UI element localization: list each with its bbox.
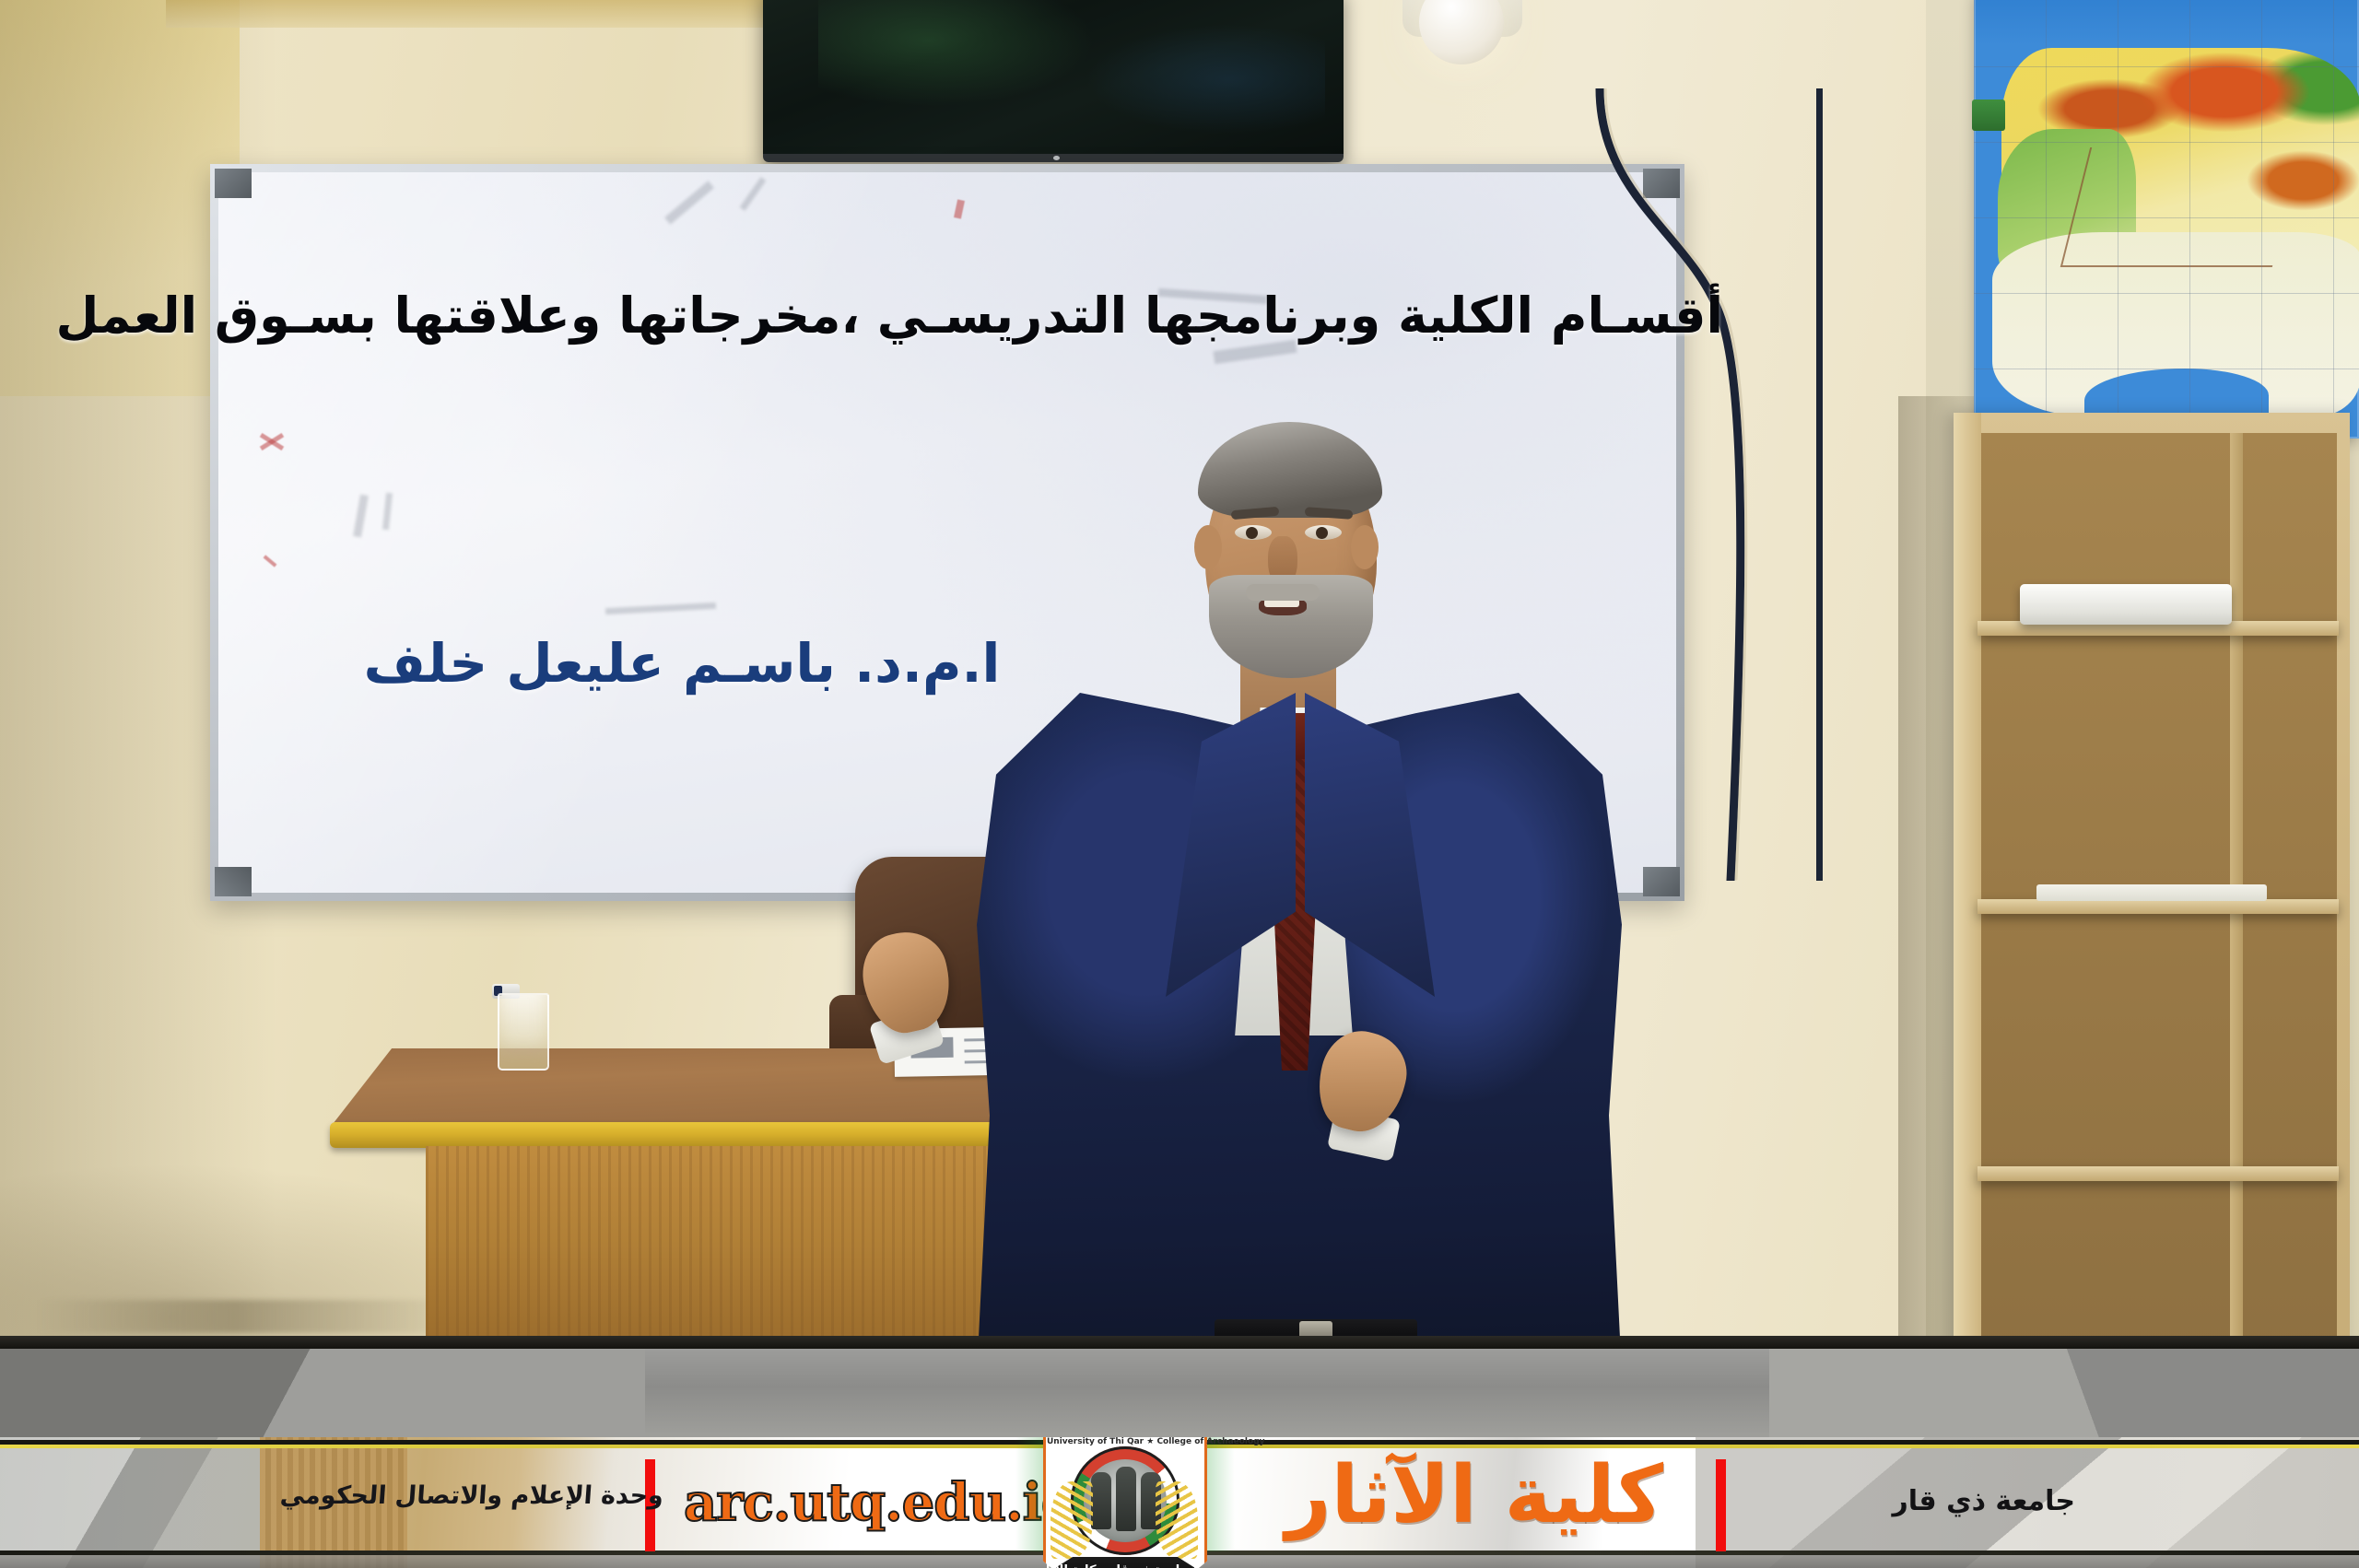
emblem-sumerian-figure bbox=[1116, 1467, 1136, 1531]
map-mounting-clip bbox=[1972, 99, 2005, 131]
banner-red-divider bbox=[1716, 1459, 1726, 1551]
screen-glare-blue bbox=[1086, 24, 1325, 135]
mustache bbox=[1246, 584, 1320, 601]
hair bbox=[1198, 422, 1382, 518]
whiteboard-red-mark bbox=[954, 199, 965, 218]
whiteboard-smudge bbox=[353, 495, 369, 538]
website-url[interactable]: arc.utq.edu.iq bbox=[684, 1472, 1052, 1533]
college-name: كلية الآثار bbox=[1244, 1454, 1705, 1537]
ear-left bbox=[1194, 525, 1222, 569]
whiteboard-smudge bbox=[382, 493, 393, 531]
whiteboard-smudge bbox=[664, 181, 714, 225]
shelf-board bbox=[1978, 1166, 2339, 1181]
slide-title: أقسـام الكلية وبرنامجها التدريسـي ،مخرجا… bbox=[230, 287, 1723, 345]
eye-right bbox=[1305, 525, 1342, 540]
banner-photo-left bbox=[0, 1437, 276, 1568]
eye-left bbox=[1235, 525, 1272, 540]
emblem-arc-text: University of Thi Qar ★ College of Archa… bbox=[1047, 1437, 1203, 1446]
wooden-bookshelf bbox=[1954, 413, 2350, 1365]
shelf-white-sheet bbox=[2036, 884, 2267, 901]
whiteboard-smudge bbox=[740, 177, 767, 211]
whiteboard-smudge bbox=[605, 603, 716, 614]
shelf-white-tray bbox=[2020, 584, 2232, 625]
map-graticule bbox=[1974, 0, 2359, 439]
presenter bbox=[977, 416, 1622, 1375]
whiteboard-red-mark bbox=[264, 555, 277, 567]
media-unit-label: وحدة الإعلام والاتصال الحكومي bbox=[276, 1481, 664, 1510]
display-power-led bbox=[1053, 156, 1060, 160]
whiteboard-corner bbox=[215, 169, 252, 198]
emblem-sumerian-figure bbox=[1091, 1472, 1111, 1529]
footer-banner: وحدة الإعلام والاتصال الحكومي arc.utq.ed… bbox=[0, 1437, 2359, 1568]
shelf-left-post bbox=[1954, 413, 1981, 1365]
baseboard bbox=[0, 1336, 2359, 1349]
whiteboard-corner bbox=[215, 867, 252, 896]
screen-glare-green bbox=[818, 0, 1095, 107]
emblem-ribbon-text: جامعة ذي قار - كلية الآثار bbox=[1062, 1563, 1189, 1568]
speaker-name-label: ا.م.د. باسـم عليعل خلف bbox=[359, 632, 1004, 695]
shelf-board bbox=[1978, 899, 2339, 914]
emblem-laurel-right bbox=[1156, 1481, 1198, 1559]
wall-mounted-display bbox=[763, 0, 1344, 162]
emblem-laurel-left bbox=[1050, 1481, 1093, 1559]
north-africa-physical-map bbox=[1974, 0, 2359, 439]
photo-canvas: أقسـام الكلية وبرنامجها التدريسـي ،مخرجا… bbox=[0, 0, 2359, 1568]
water-glass bbox=[498, 993, 549, 1071]
university-emblem: University of Thi Qar ★ College of Archa… bbox=[1030, 1437, 1220, 1568]
ear-right bbox=[1351, 525, 1379, 569]
university-name: جامعة ذي قار bbox=[1743, 1485, 2075, 1517]
